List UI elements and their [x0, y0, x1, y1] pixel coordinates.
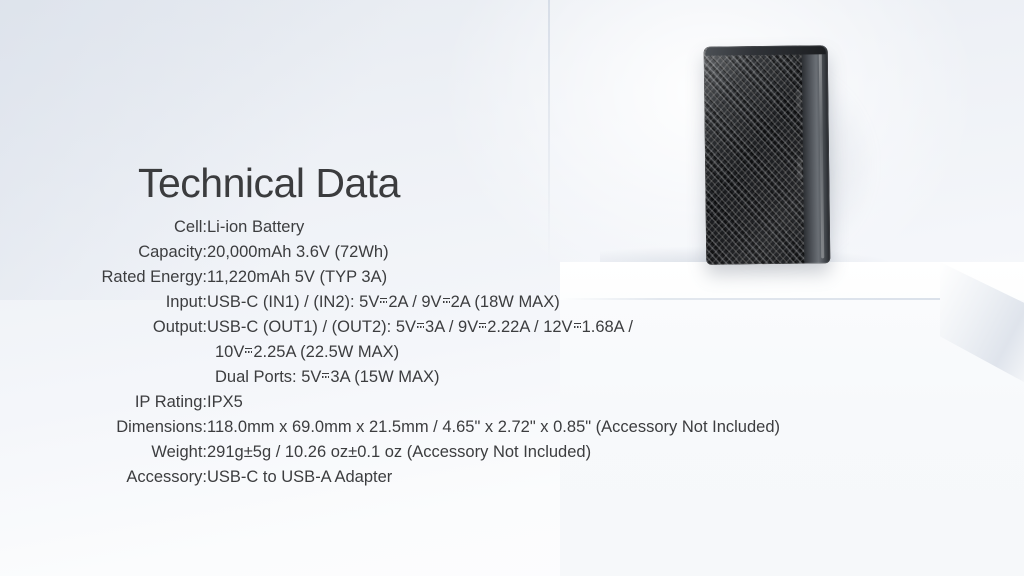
spec-row: Capacity:20,000mAh 3.6V (72Wh): [0, 240, 780, 265]
dc-voltage-icon: [573, 316, 582, 333]
spec-value: USB-C (OUT1) / (OUT2): 5V3A / 9V2.22A / …: [207, 315, 780, 390]
spec-value: 118.0mm x 69.0mm x 21.5mm / 4.65" x 2.72…: [207, 415, 780, 440]
usb-port-slot-1: [796, 90, 801, 112]
spec-value-line: USB-C (IN1) / (IN2): 5V2A / 9V2A (18W MA…: [207, 290, 780, 315]
spec-value-line: 10V2.25A (22.5W MAX): [207, 340, 780, 365]
dc-voltage-icon: [442, 291, 451, 308]
spec-label: Weight:: [0, 440, 207, 465]
spec-value-line: 20,000mAh 3.6V (72Wh): [207, 240, 780, 265]
spec-label: Input:: [0, 290, 207, 315]
spec-value-line: 291g±5g / 10.26 oz±0.1 oz (Accessory Not…: [207, 440, 780, 465]
spec-value-line: Dual Ports: 5V3A (15W MAX): [207, 365, 780, 390]
spec-label: Cell:: [0, 215, 207, 240]
spec-value: USB-C to USB-A Adapter: [207, 465, 780, 490]
dc-voltage-icon: [244, 341, 253, 358]
dc-voltage-icon: [478, 316, 487, 333]
product-top-cap: [706, 45, 826, 55]
spec-row: Dimensions:118.0mm x 69.0mm x 21.5mm / 4…: [0, 415, 780, 440]
spec-label: Dimensions:: [0, 415, 207, 440]
dc-voltage-icon: [321, 366, 330, 383]
spec-label: IP Rating:: [0, 390, 207, 415]
specifications-body: Cell:Li-ion BatteryCapacity:20,000mAh 3.…: [0, 215, 780, 490]
spec-value: Li-ion Battery: [207, 215, 780, 240]
spec-value: 11,220mAh 5V (TYP 3A): [207, 265, 780, 290]
spec-row: Input:USB-C (IN1) / (IN2): 5V2A / 9V2A (…: [0, 290, 780, 315]
spec-row: Accessory:USB-C to USB-A Adapter: [0, 465, 780, 490]
technical-data-section: Technical Data Cell:Li-ion BatteryCapaci…: [0, 160, 900, 490]
spec-value-line: USB-C (OUT1) / (OUT2): 5V3A / 9V2.22A / …: [207, 315, 780, 340]
spec-value: 20,000mAh 3.6V (72Wh): [207, 240, 780, 265]
spec-label: Output:: [0, 315, 207, 390]
spec-row: Rated Energy:11,220mAh 5V (TYP 3A): [0, 265, 780, 290]
spec-label: Rated Energy:: [0, 265, 207, 290]
spec-value-line: IPX5: [207, 390, 780, 415]
spec-row: Output:USB-C (OUT1) / (OUT2): 5V3A / 9V2…: [0, 315, 780, 390]
spec-value: USB-C (IN1) / (IN2): 5V2A / 9V2A (18W MA…: [207, 290, 780, 315]
spec-label: Accessory:: [0, 465, 207, 490]
spec-row: Cell:Li-ion Battery: [0, 215, 780, 240]
page-title: Technical Data: [138, 160, 900, 207]
spec-value-line: 11,220mAh 5V (TYP 3A): [207, 265, 780, 290]
spec-value: 291g±5g / 10.26 oz±0.1 oz (Accessory Not…: [207, 440, 780, 465]
dc-voltage-icon: [416, 316, 425, 333]
spec-value-line: USB-C to USB-A Adapter: [207, 465, 780, 490]
product-spec-slide: Technical Data Cell:Li-ion BatteryCapaci…: [0, 0, 1024, 576]
spec-value: IPX5: [207, 390, 780, 415]
specifications-table: Cell:Li-ion BatteryCapacity:20,000mAh 3.…: [0, 215, 780, 490]
spec-label: Capacity:: [0, 240, 207, 265]
spec-value-line: Li-ion Battery: [207, 215, 780, 240]
spec-row: Weight:291g±5g / 10.26 oz±0.1 oz (Access…: [0, 440, 780, 465]
dc-voltage-icon: [379, 291, 388, 308]
spec-row: IP Rating:IPX5: [0, 390, 780, 415]
spec-value-line: 118.0mm x 69.0mm x 21.5mm / 4.65" x 2.72…: [207, 415, 780, 440]
